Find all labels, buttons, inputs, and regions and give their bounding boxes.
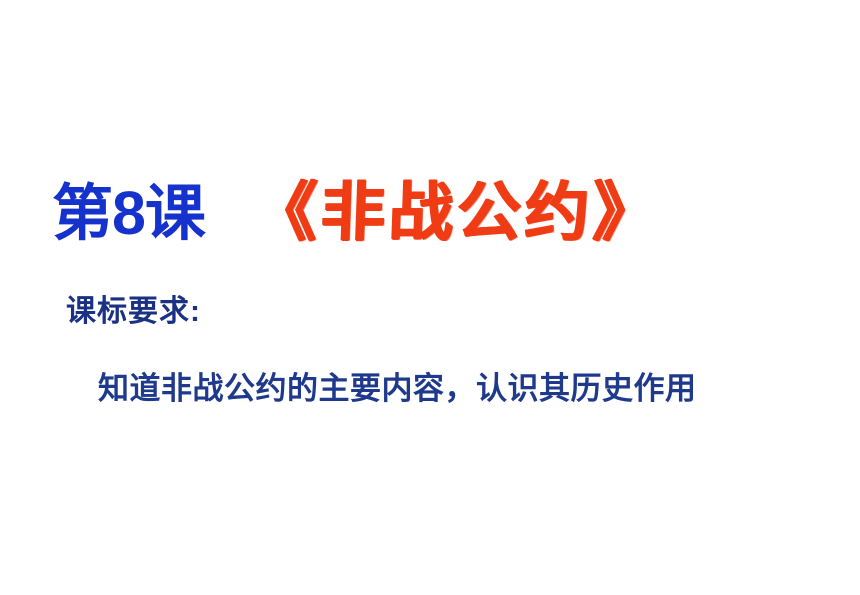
curriculum-requirement-text: 知道非战公约的主要内容，认识其历史作用	[68, 368, 768, 411]
slide-canvas: 第8课 《非战公约》 课标要求: 知道非战公约的主要内容，认识其历史作用	[0, 0, 860, 595]
page-title: 第8课 《非战公约》	[52, 181, 661, 245]
lesson-number: 第8课	[52, 183, 205, 244]
curriculum-requirement-label: 课标要求:	[66, 297, 201, 327]
treaty-title: 《非战公约》	[252, 181, 662, 245]
